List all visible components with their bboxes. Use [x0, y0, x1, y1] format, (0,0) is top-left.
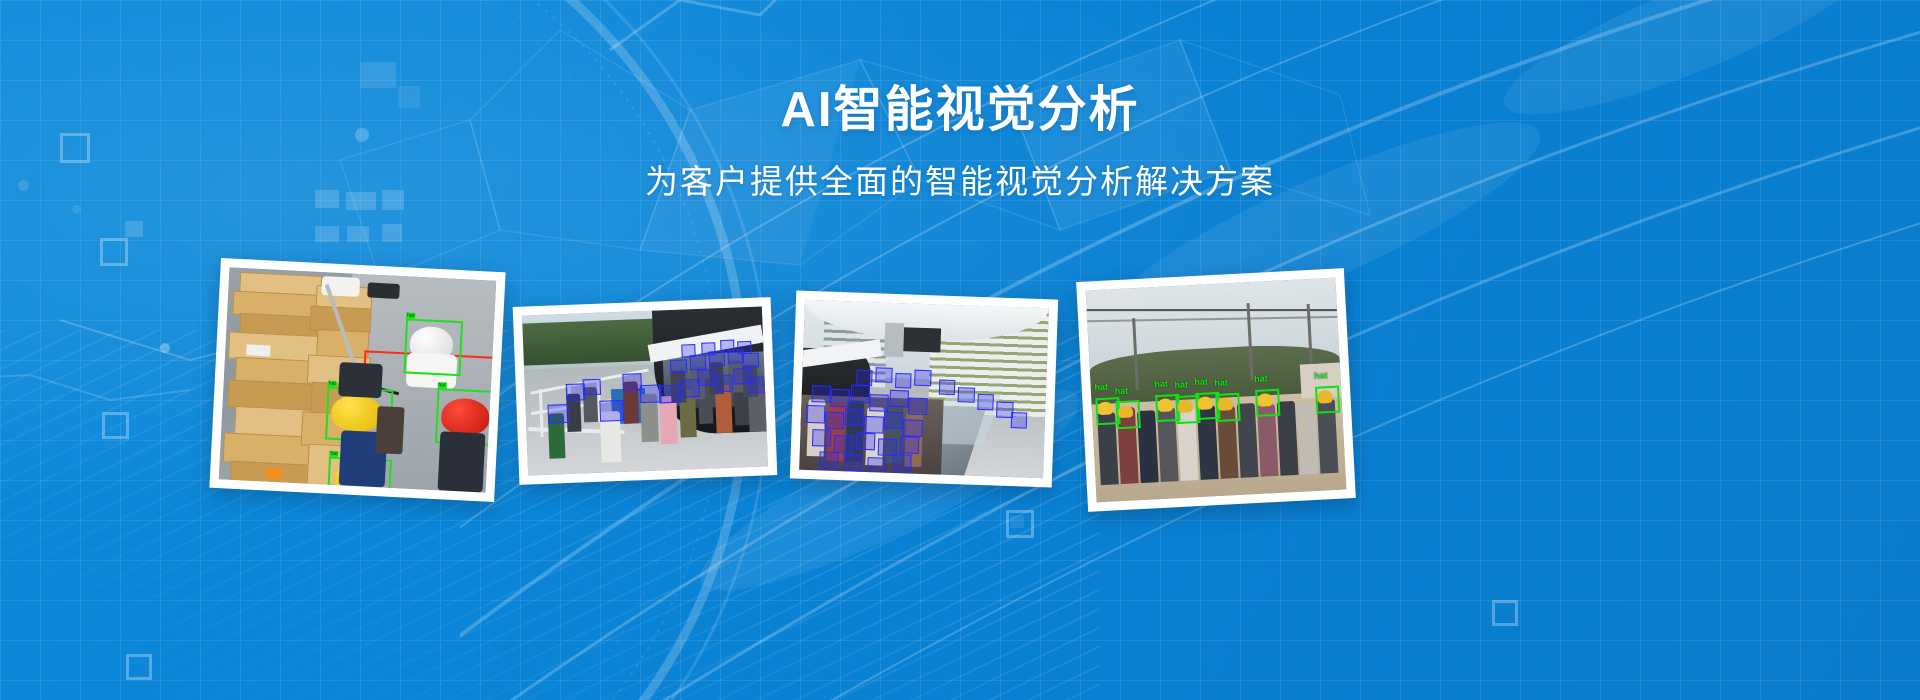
face-detection-box [831, 389, 851, 407]
gallery-item-outdoor-hat-detection[interactable]: hat hat hat hat hat hat hat [1076, 268, 1356, 512]
detection-label: hat [1114, 386, 1128, 396]
detection-box [403, 319, 463, 377]
face-detection-box [806, 405, 826, 423]
photo-warehouse-helmet-detection: hat hat hat hat [219, 267, 496, 492]
face-detection-box [812, 429, 832, 447]
decor-square-filled [315, 226, 339, 242]
photo-station-crowd-face-detection [522, 306, 768, 475]
face-detection-box [908, 397, 928, 415]
face-detection-box [845, 408, 865, 426]
face-detection-box [825, 411, 845, 429]
page-title: AI智能视觉分析 [0, 84, 1920, 138]
face-detection-box [737, 340, 751, 354]
decor-square-outline [1492, 600, 1518, 626]
detection-box [1115, 400, 1140, 429]
face-detection-box [900, 436, 920, 454]
detection-label: hat [330, 451, 339, 457]
face-detection-box [720, 340, 734, 354]
face-detection-box [889, 389, 909, 407]
detection-label: hat [1314, 371, 1328, 381]
face-detection-box [958, 387, 975, 403]
face-detection-box [856, 370, 873, 386]
face-detection-box [547, 404, 569, 424]
face-detection-box [819, 452, 839, 470]
decor-square-outline [126, 654, 152, 680]
detection-label: hat [406, 312, 415, 318]
face-detection-box [834, 435, 854, 453]
hero-text-block: AI智能视觉分析 为客户提供全面的智能视觉分析解决方案 [0, 84, 1920, 200]
detection-label: hat [1094, 383, 1108, 393]
detection-label: hat [1214, 379, 1228, 389]
detection-label: hat [1154, 380, 1168, 390]
face-detection-box [811, 385, 831, 403]
face-detection-box [884, 411, 904, 429]
decor-square-filled [382, 224, 402, 242]
hero-banner: AI智能视觉分析 为客户提供全面的智能视觉分析解决方案 [0, 0, 1920, 700]
detection-gallery: hat hat hat hat [0, 255, 1920, 525]
detection-box [1255, 389, 1280, 418]
face-detection-box [938, 379, 955, 395]
face-detection-box [977, 394, 994, 410]
face-detection-box [742, 353, 759, 368]
decor-square-filled [347, 226, 369, 242]
face-detection-box [714, 375, 733, 392]
face-detection-box [748, 377, 767, 394]
detection-box [1215, 393, 1240, 422]
face-detection-box [856, 433, 876, 451]
gallery-item-station-crowd-face-detection[interactable] [513, 297, 778, 485]
photo-outdoor-hat-detection: hat hat hat hat hat hat hat [1086, 278, 1347, 503]
decor-dot [72, 205, 81, 214]
face-detection-box [903, 419, 923, 437]
face-detection-box [914, 370, 931, 386]
photo-platform-crowd-face-detection [799, 300, 1049, 478]
face-detection-box [864, 416, 884, 434]
page-subtitle: 为客户提供全面的智能视觉分析解决方案 [0, 164, 1920, 200]
face-detection-box [870, 394, 890, 412]
detection-label: hat [328, 381, 337, 387]
detection-label: hat [1254, 375, 1268, 385]
face-detection-box [682, 344, 696, 358]
face-detection-box [892, 454, 912, 472]
face-detection-box [701, 342, 715, 356]
detection-label: hat [1174, 381, 1188, 391]
face-detection-box [867, 457, 887, 475]
face-detection-box [843, 454, 863, 472]
detection-label: hat [1194, 378, 1208, 388]
face-detection-box [875, 367, 892, 383]
face-detection-box [895, 373, 912, 389]
detection-box [1315, 386, 1340, 415]
gallery-item-warehouse-helmet-detection[interactable]: hat hat hat hat [209, 258, 505, 502]
detection-label: hat [437, 382, 446, 388]
face-detection-box [850, 385, 870, 403]
gallery-item-platform-crowd-face-detection[interactable] [790, 290, 1058, 487]
face-detection-box [600, 400, 624, 422]
face-detection-box [1011, 412, 1028, 428]
face-detection-box [670, 359, 687, 374]
decor-square-filled [125, 221, 143, 237]
face-detection-box [582, 378, 601, 395]
